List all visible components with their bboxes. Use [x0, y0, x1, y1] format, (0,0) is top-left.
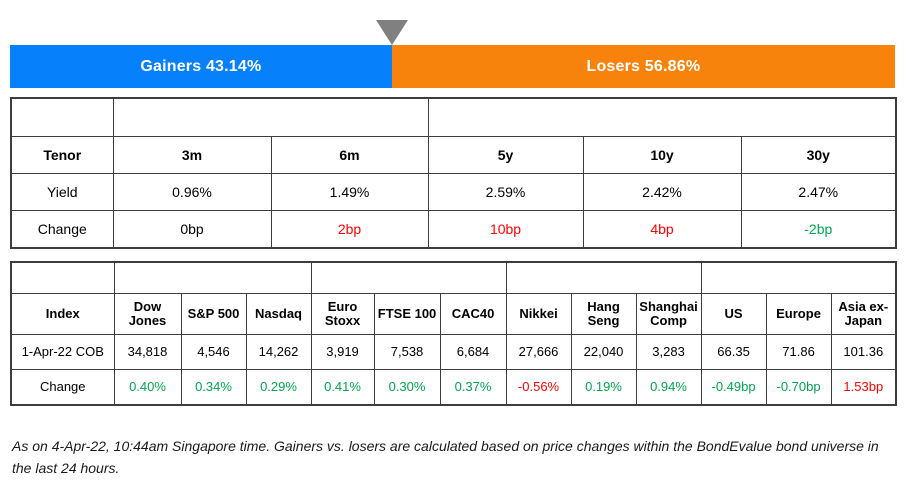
yield-3m: 0.96% — [113, 174, 271, 211]
group-header-ig-cds-spreads: IG CDS Spreads — [701, 262, 896, 294]
cob-sp-500: 4,546 — [181, 335, 246, 370]
tenor-30y: 30y — [741, 137, 896, 174]
change-6m: 2bp — [271, 211, 428, 249]
change-cds-us: -0.49bp — [701, 370, 766, 406]
yield-5y: 2.59% — [428, 174, 583, 211]
tenor-row-label: Tenor — [11, 137, 113, 174]
indices-group-header-row: US Indices Europe Indices Asia Indices I… — [11, 262, 896, 294]
tenor-6m: 6m — [271, 137, 428, 174]
indices-cds-table: US Indices Europe Indices Asia Indices I… — [10, 261, 897, 406]
change-euro-stoxx: 0.41% — [311, 370, 374, 406]
tenor-3m: 3m — [113, 137, 271, 174]
col-cds-us: US — [701, 294, 766, 335]
change-nasdaq: 0.29% — [246, 370, 311, 406]
indices-corner-blank — [11, 262, 114, 294]
col-sp-500: S&P 500 — [181, 294, 246, 335]
cob-nikkei: 27,666 — [506, 335, 571, 370]
cob-nasdaq: 14,262 — [246, 335, 311, 370]
col-ftse-100: FTSE 100 — [374, 294, 440, 335]
yield-30y: 2.47% — [741, 174, 896, 211]
table-row: Change 0.40% 0.34% 0.29% 0.41% 0.30% 0.3… — [11, 370, 896, 406]
change-10y: 4bp — [583, 211, 741, 249]
change-hang-seng: 0.19% — [571, 370, 636, 406]
benchmark-group-header-row: Benchmark US LIBOR US Treasury — [11, 98, 896, 137]
cob-cds-asia-ex-japan: 101.36 — [831, 335, 896, 370]
cob-euro-stoxx: 3,919 — [311, 335, 374, 370]
col-euro-stoxx: Euro Stoxx — [311, 294, 374, 335]
change-shanghai-comp: 0.94% — [636, 370, 701, 406]
cob-ftse-100: 7,538 — [374, 335, 440, 370]
change-sp-500: 0.34% — [181, 370, 246, 406]
change-3m: 0bp — [113, 211, 271, 249]
cob-cac40: 6,684 — [440, 335, 506, 370]
change-cac40: 0.37% — [440, 370, 506, 406]
benchmark-corner-label: Benchmark — [11, 98, 113, 137]
sentiment-bar: Gainers 43.14% Losers 56.86% — [10, 45, 895, 88]
group-header-us-libor: US LIBOR — [113, 98, 428, 137]
row-label-change: Change — [11, 211, 113, 249]
gainers-losers-widget: Gainers 43.14% Losers 56.86% — [10, 12, 895, 88]
col-dow-jones: Dow Jones — [114, 294, 181, 335]
cob-dow-jones: 34,818 — [114, 335, 181, 370]
change-nikkei: -0.56% — [506, 370, 571, 406]
group-header-us-treasury: US Treasury — [428, 98, 896, 137]
table-row: 1-Apr-22 COB 34,818 4,546 14,262 3,919 7… — [11, 335, 896, 370]
losers-segment: Losers 56.86% — [392, 45, 895, 88]
col-cac40: CAC40 — [440, 294, 506, 335]
cob-hang-seng: 22,040 — [571, 335, 636, 370]
col-shanghai-comp: Shanghai Comp — [636, 294, 701, 335]
col-cds-europe: Europe — [766, 294, 831, 335]
index-row-label: Index — [11, 294, 114, 335]
col-nikkei: Nikkei — [506, 294, 571, 335]
tenor-5y: 5y — [428, 137, 583, 174]
row-label-index-change: Change — [11, 370, 114, 406]
group-header-europe-indices: Europe Indices — [311, 262, 506, 294]
change-dow-jones: 0.40% — [114, 370, 181, 406]
table-row: Yield 0.96% 1.49% 2.59% 2.42% 2.47% — [11, 174, 896, 211]
group-header-us-indices: US Indices — [114, 262, 311, 294]
market-summary-page: Gainers 43.14% Losers 56.86% Benchmark U… — [0, 0, 906, 484]
col-nasdaq: Nasdaq — [246, 294, 311, 335]
group-header-asia-indices: Asia Indices — [506, 262, 701, 294]
change-30y: -2bp — [741, 211, 896, 249]
footnote-text: As on 4-Apr-22, 10:44am Singapore time. … — [12, 436, 884, 479]
change-5y: 10bp — [428, 211, 583, 249]
index-header-row: Index Dow Jones S&P 500 Nasdaq Euro Stox… — [11, 294, 896, 335]
yield-6m: 1.49% — [271, 174, 428, 211]
cob-shanghai-comp: 3,283 — [636, 335, 701, 370]
col-hang-seng: Hang Seng — [571, 294, 636, 335]
col-cds-asia-ex-japan: Asia ex-Japan — [831, 294, 896, 335]
row-label-yield: Yield — [11, 174, 113, 211]
tenor-header-row: Tenor 3m 6m 5y 10y 30y — [11, 137, 896, 174]
benchmark-rates-table: Benchmark US LIBOR US Treasury Tenor 3m … — [10, 97, 897, 249]
table-row: Change 0bp 2bp 10bp 4bp -2bp — [11, 211, 896, 249]
yield-10y: 2.42% — [583, 174, 741, 211]
change-cds-europe: -0.70bp — [766, 370, 831, 406]
split-marker-triangle-icon — [376, 20, 408, 45]
tenor-10y: 10y — [583, 137, 741, 174]
split-marker-row — [10, 12, 895, 45]
change-ftse-100: 0.30% — [374, 370, 440, 406]
change-cds-asia-ex-japan: 1.53bp — [831, 370, 896, 406]
gainers-segment: Gainers 43.14% — [10, 45, 392, 88]
cob-cds-europe: 71.86 — [766, 335, 831, 370]
row-label-cob: 1-Apr-22 COB — [11, 335, 114, 370]
cob-cds-us: 66.35 — [701, 335, 766, 370]
